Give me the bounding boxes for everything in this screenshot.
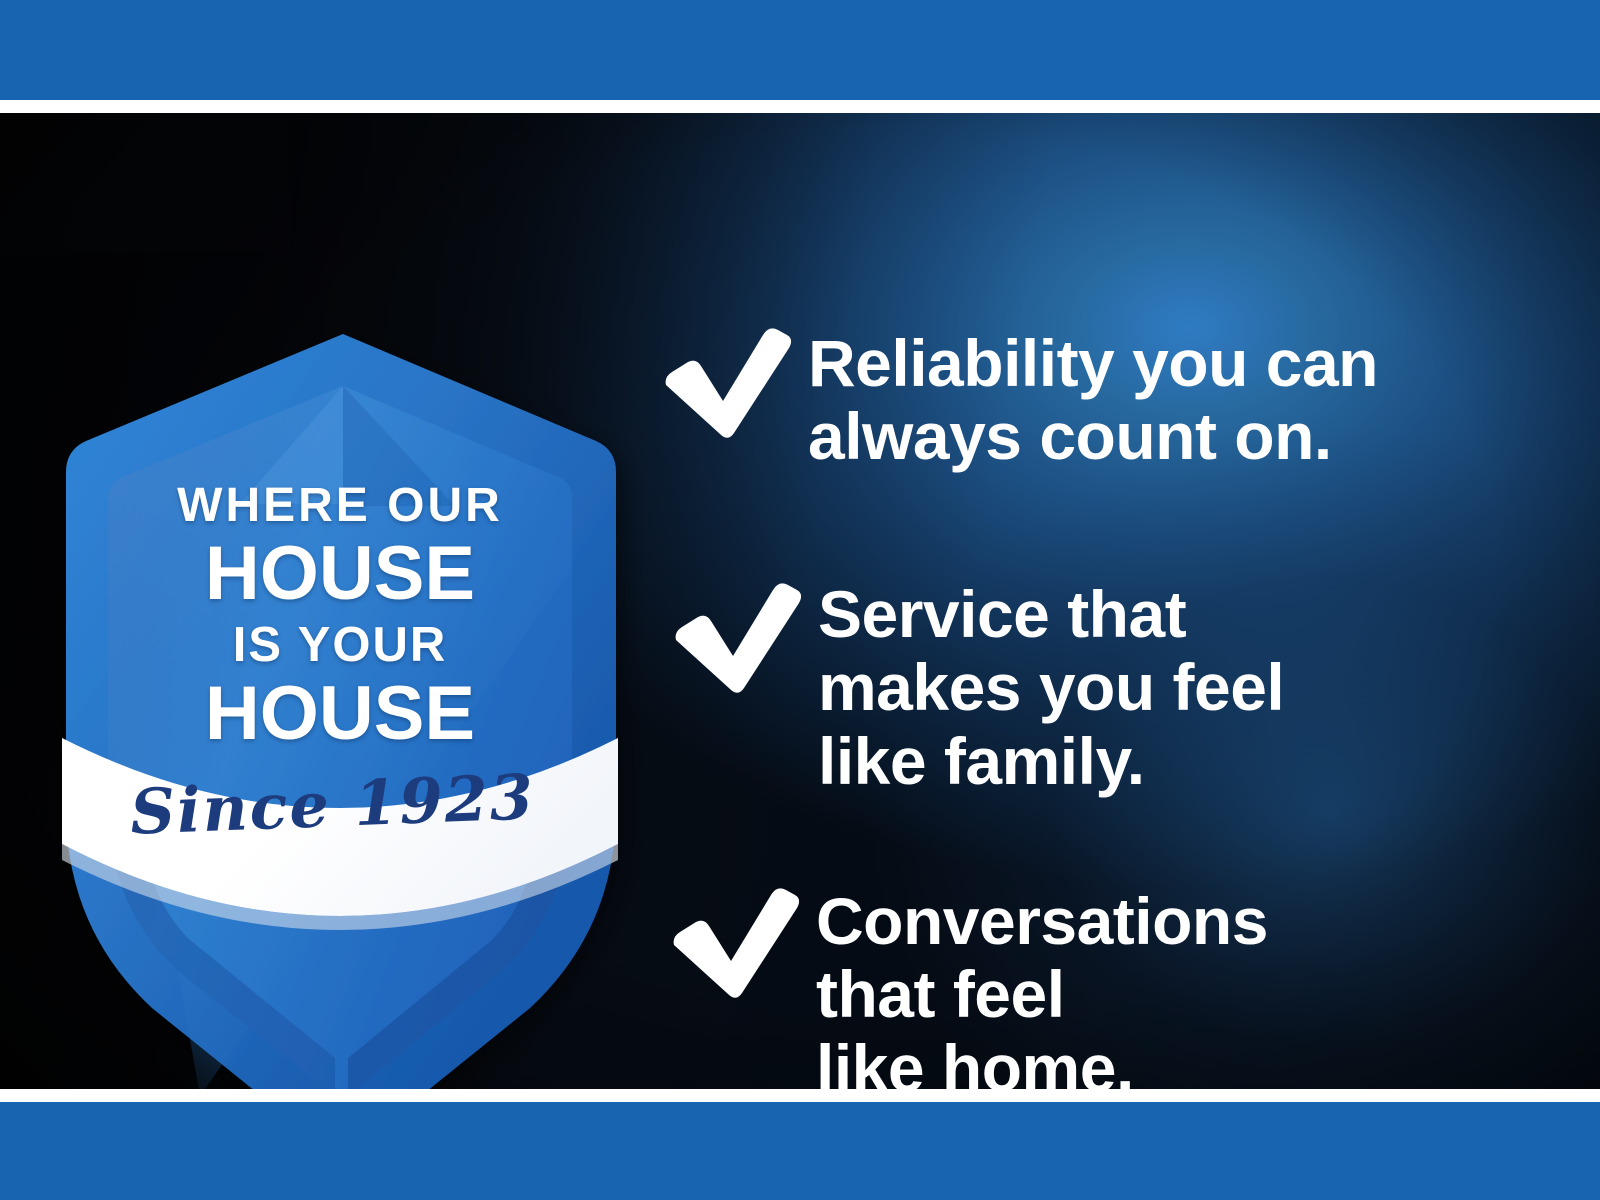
bottom-brand-bar (0, 1102, 1600, 1200)
check-icon (668, 881, 800, 999)
list-item: Conversations that feel like home. (668, 881, 1268, 1089)
list-item-label: Service that makes you feel like family. (818, 576, 1284, 798)
list-item: Service that makes you feel like family. (670, 576, 1284, 798)
benefits-list: Reliability you can always count on. Ser… (660, 226, 1540, 1089)
list-item-label: Conversations that feel like home. (816, 881, 1268, 1089)
check-icon (660, 321, 792, 439)
check-icon (670, 576, 802, 694)
shield-badge: Where Our House Is Your House Since 1923 (60, 268, 620, 1078)
promo-graphic: Where Our House Is Your House Since 1923… (0, 0, 1600, 1200)
list-item-label: Reliability you can always count on. (808, 321, 1378, 474)
main-canvas: Where Our House Is Your House Since 1923… (0, 113, 1600, 1089)
list-item: Reliability you can always count on. (660, 321, 1378, 474)
top-brand-bar (0, 0, 1600, 100)
